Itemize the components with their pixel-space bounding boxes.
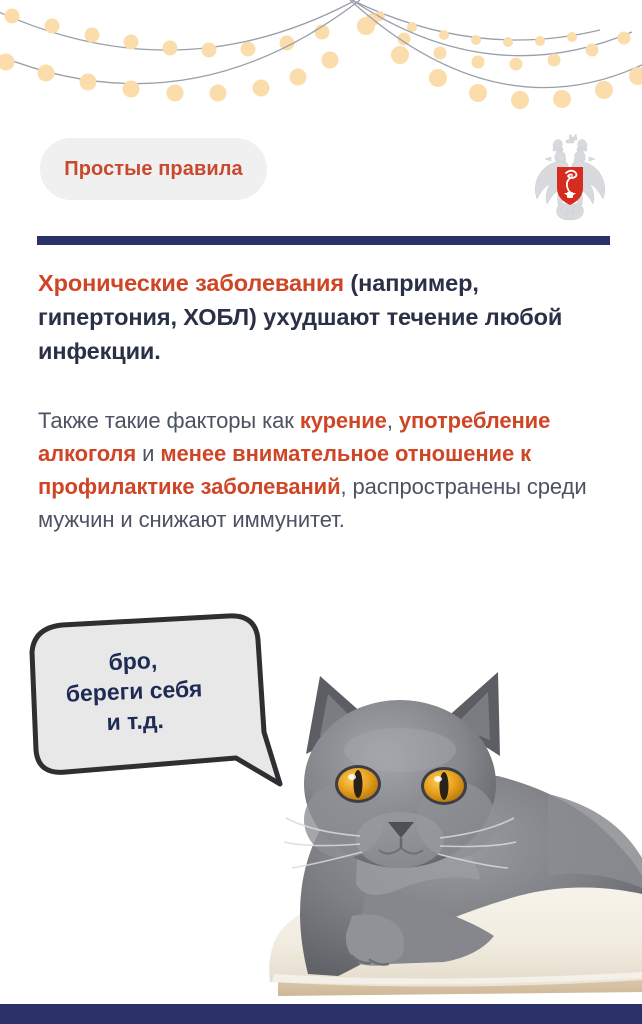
text-segment: Хронические заболевания	[38, 270, 344, 296]
text-segment: и	[136, 441, 160, 466]
speech-bubble-text: бро,береги себяи т.д.	[12, 641, 255, 740]
content-block: Хронические заболевания (например, гипер…	[38, 266, 618, 536]
speech-bubble-line: береги себя	[65, 675, 202, 706]
poster-canvas: Простые правила	[0, 0, 642, 1024]
speech-bubble-line: бро,	[108, 647, 158, 675]
headline: Хронические заболевания (например, гипер…	[38, 266, 618, 368]
speech-bubble-line: и т.д.	[106, 707, 164, 735]
header-row: Простые правила	[0, 131, 642, 227]
body-paragraph: Также такие факторы как курение, употреб…	[38, 404, 618, 536]
text-segment: Также такие факторы как	[38, 408, 300, 433]
russian-ministry-of-health-emblem-icon	[527, 131, 613, 223]
navy-divider	[37, 236, 610, 245]
badge-label: Простые правила	[64, 158, 243, 181]
string-lights-icon	[0, 0, 642, 130]
cat-photo	[248, 644, 642, 1006]
bottom-navy-bar	[0, 1004, 642, 1024]
text-segment: ,	[387, 408, 399, 433]
badge-prostye-pravila[interactable]: Простые правила	[40, 138, 267, 200]
text-segment: курение	[300, 408, 387, 433]
